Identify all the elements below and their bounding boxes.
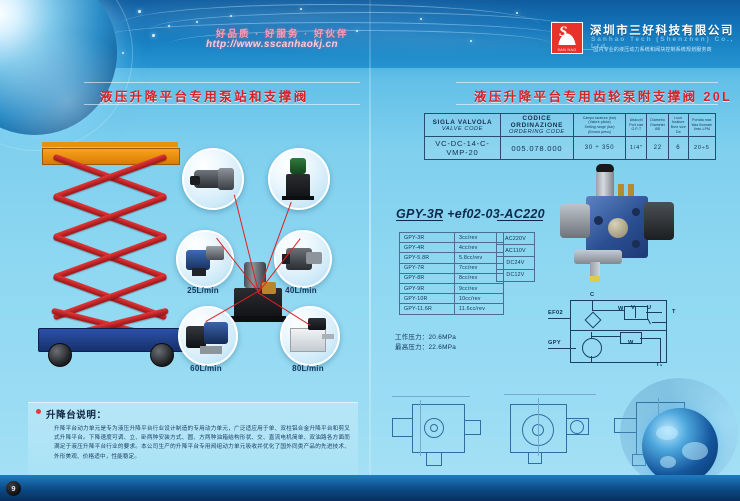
table-header-row: SIGLA VALVOLA VALVE CODE CODICE ORDINAZI…: [425, 114, 716, 137]
schematic-label-w-bottom: W: [628, 340, 634, 346]
note-bullet-icon: [36, 409, 41, 414]
sparkle-dot: [356, 30, 358, 32]
table-row: DC12V: [497, 269, 535, 281]
voltage-option: DC24V: [497, 257, 535, 269]
cad-drawing-side-view: [496, 392, 606, 464]
page-gutter: [369, 0, 371, 501]
table-row: GPY-9R9cc/rev: [400, 283, 504, 293]
sparkle-dot: [420, 18, 422, 20]
pump-photo-3: [178, 232, 232, 286]
sphere-ring: [0, 0, 133, 151]
table-row: VC-DC-14-C-VMP-20 005.078.000 30 ÷ 350 1…: [425, 137, 716, 160]
company-logo-mark: S SAN HAO: [551, 22, 583, 54]
sparkle-dot: [516, 12, 518, 14]
note-heading: 升降台说明：: [46, 407, 107, 421]
scissor-arms: [48, 164, 172, 332]
schematic-label-gpy: GPY: [548, 340, 561, 346]
schematic-line: [652, 322, 666, 323]
catalog-page: 好品质 · 好服务 · 好伙伴 http://www.sscanhaokj.cn…: [0, 0, 740, 501]
cell-diameter: 22: [647, 137, 669, 160]
voltage-option: AC110V: [497, 245, 535, 257]
bubble-pump-6[interactable]: [280, 306, 340, 366]
company-website[interactable]: http://www.sscanhaokj.cn: [206, 39, 338, 50]
cad-drawing-front-view: [386, 392, 496, 464]
schematic-line: [591, 356, 592, 362]
tank-base: [230, 316, 286, 322]
page-number-badge: 9: [6, 481, 21, 496]
logo-subtext: SAN HAO: [552, 48, 582, 52]
cell-ordering-code: 005.078.000: [500, 137, 573, 160]
lift-wheel: [48, 343, 72, 367]
col-valve-code-cn: SIGLA VALVOLA: [426, 119, 499, 126]
table-row: DC24V: [497, 257, 535, 269]
company-tagline: ——国内专业的液压动力系统和阀块控制系统规划服务商: [583, 46, 712, 53]
schematic-line-c: [592, 300, 593, 310]
col-max-flow-label: Portata max Max flowrate l/min-LPM: [690, 118, 714, 132]
cell-max-flow: 20÷5: [688, 137, 715, 160]
sparkle-dot: [152, 34, 155, 37]
bubble-label-3: 25L/min: [170, 286, 236, 295]
lift-note-box: 升降台说明： 升降平台动力单元是专为液压升降平台行业设计制造的专用动力单元，广泛…: [28, 402, 358, 481]
voltage-option-table: AC220V AC110V DC24V DC12V: [496, 232, 535, 282]
shaft-key: [590, 276, 600, 282]
cell-valve-code: VC-DC-14-C-VMP-20: [425, 137, 501, 160]
gear-pump-valve-photo: [556, 158, 696, 286]
pump-displacement: 9cc/rev: [455, 283, 504, 293]
schematic-line: [591, 332, 592, 338]
schematic-border-left: [570, 300, 571, 362]
pump-model: GPY-9R: [400, 283, 455, 293]
solenoid-coil: [644, 202, 674, 240]
table-row: GPY-3R3cc/rev: [400, 233, 504, 243]
bubble-pump-3[interactable]: [176, 230, 234, 288]
sparkle-dot: [138, 10, 141, 13]
col-ordering-code: CODICE ORDINAZIONE ORDERING CODE: [500, 114, 573, 137]
schematic-border-right: [666, 300, 667, 362]
left-page-title: 液压升降平台专用泵站和支撑阀: [100, 86, 309, 105]
pump-model: GPY-5.8R: [400, 253, 455, 263]
schematic-label-ef02: EF02: [548, 310, 563, 316]
globe-landmass: [660, 456, 676, 468]
pump-photo-1: [184, 150, 242, 208]
voltage-option: AC220V: [497, 233, 535, 245]
leader-line-gpy: [548, 348, 576, 349]
valve-spec-table: SIGLA VALVOLA VALVE CODE CODICE ORDINAZI…: [424, 113, 716, 160]
pump-model: GPY-8R: [400, 273, 455, 283]
col-setting-range: Campo taratura (bar) (Valore pilota) Set…: [573, 114, 625, 137]
pressure-spec-block: 工作压力：20.6MPa 最高压力：22.6MPa: [395, 333, 456, 353]
col-max-flow: Portata max Max flowrate l/min-LPM: [688, 114, 715, 137]
col-diameter: Diametro Diameter ØD: [647, 114, 669, 137]
manifold-port: [632, 240, 640, 248]
pump-displacement: 10cc/rev: [455, 294, 504, 304]
schematic-label-t: T: [672, 309, 676, 315]
sparkle-dot: [168, 25, 170, 27]
company-slogan: 好品质 · 好服务 · 好伙伴: [216, 26, 348, 40]
model-code-underline-right: [497, 220, 543, 221]
leader-line-ef02: [548, 318, 570, 319]
schematic-line: [646, 312, 662, 313]
col-bore-size-label: Luce forature Bore size Da: [670, 116, 687, 134]
voltage-option: DC12V: [497, 269, 535, 281]
globe-landmass: [656, 426, 678, 440]
relief-valve-symbol: [624, 306, 648, 320]
bubble-label-5: 60L/min: [172, 364, 240, 373]
schematic-label-w-top: W: [618, 306, 624, 312]
pump-model: GPY-3R: [400, 233, 455, 243]
table-row: AC110V: [497, 245, 535, 257]
hydraulic-schematic: EF02 GPY W W T T₁ C U V: [548, 298, 708, 378]
cell-port-size: 1/4": [626, 137, 647, 160]
pump-model: GPY-4R: [400, 243, 455, 253]
pump-displacement-table: GPY-3R3cc/rev GPY-4R4cc/rev GPY-5.8R5.8c…: [399, 232, 504, 315]
lift-wheel: [150, 343, 174, 367]
sparkle-dot: [230, 15, 232, 17]
check-valve-symbol: [585, 312, 602, 329]
manifold-port-center: [608, 218, 628, 238]
schematic-label-v: V: [631, 305, 635, 311]
gear-pump-symbol: [582, 338, 602, 358]
table-row: GPY-7R7cc/rev: [400, 263, 504, 273]
lift-guard-rail: [42, 142, 178, 147]
note-body-text: 升降平台动力单元是专为液压升降平台行业设计制造的专用动力单元，广泛适应用于单、双…: [54, 425, 350, 462]
cell-bore-size: 6: [669, 137, 689, 160]
pump-model: GPY-7R: [400, 263, 455, 273]
table-row: GPY-11.6R11.6cc/rev: [400, 304, 504, 314]
globe-sphere: [642, 408, 718, 484]
cell-setting-range: 30 ÷ 350: [573, 137, 625, 160]
table-row: AC220V: [497, 233, 535, 245]
pump-model: GPY-11.6R: [400, 304, 455, 314]
sparkle-dot: [470, 40, 472, 42]
globe-landmass: [682, 442, 708, 460]
working-pressure: 工作压力：20.6MPa: [395, 333, 456, 343]
schematic-label-c: C: [590, 292, 594, 298]
schematic-label-u: U: [647, 305, 651, 311]
right-title-rule-top: [456, 82, 718, 83]
col-valve-code: SIGLA VALVOLA VALVE CODE: [425, 114, 501, 137]
bubble-label-4: 40L/min: [268, 286, 334, 295]
sparkle-dot: [196, 21, 198, 23]
gear-pump-body: [560, 204, 590, 238]
manifold-port: [632, 208, 640, 216]
pump-model: GPY-10R: [400, 294, 455, 304]
schematic-line: [640, 338, 660, 339]
col-bore-size: Luce forature Bore size Da: [669, 114, 689, 137]
left-title-rule-top: [84, 82, 360, 83]
pump-displacement: 11.6cc/rev: [455, 304, 504, 314]
table-row: GPY-4R4cc/rev: [400, 243, 504, 253]
col-port-size-label: Attacchi Port size G-P-T: [627, 118, 645, 132]
right-page-title: 液压升降平台专用齿轮泵附支撑阀 20L: [474, 86, 732, 105]
table-row: GPY-10R10cc/rev: [400, 294, 504, 304]
model-code-label: GPY-3R +ef02-03-AC220: [396, 207, 545, 221]
col-ordering-code-cn: CODICE ORDINAZIONE: [502, 115, 572, 129]
col-port-size: Attacchi Port size G-P-T: [626, 114, 647, 137]
bubble-pump-2[interactable]: [268, 148, 330, 210]
pump-photo-6: [282, 308, 338, 364]
maximum-pressure: 最高压力：22.6MPa: [395, 343, 456, 353]
globe-graphic: [620, 378, 738, 488]
logo-letter: S: [559, 24, 567, 41]
pump-photo-5: [180, 308, 236, 364]
left-title-rule-bottom: [84, 104, 360, 105]
scissor-lift-illustration: [34, 140, 184, 375]
pump-photo-2: [270, 150, 328, 208]
schematic-label-t1: T₁: [656, 362, 663, 368]
col-valve-code-en: VALVE CODE: [426, 126, 499, 132]
pump-riser: [596, 172, 614, 198]
col-ordering-code-en: ORDERING CODE: [502, 129, 572, 135]
sparkle-dot: [300, 8, 302, 10]
schematic-line: [591, 336, 621, 337]
table-row: GPY-5.8R5.8cc/rev: [400, 253, 504, 263]
schematic-divider: [570, 330, 666, 331]
manifold-port: [594, 216, 603, 225]
schematic-line: [660, 338, 661, 362]
bubble-label-6: 80L/min: [274, 364, 342, 373]
table-row: GPY-8R8cc/rev: [400, 273, 504, 283]
col-setting-range-en: Setting range (bar) (Known press): [575, 125, 624, 134]
valve-divider: [635, 306, 636, 318]
schematic-border-top: [570, 300, 666, 301]
model-code-underline-left: [396, 220, 443, 221]
col-setting-range-it: Campo taratura (bar) (Valore pilota): [575, 116, 624, 125]
schematic-border-bottom: [570, 362, 667, 363]
col-diameter-label: Diametro Diameter ØD: [648, 118, 667, 132]
bubble-pump-5[interactable]: [178, 306, 238, 366]
bottom-banner: [0, 475, 740, 501]
right-title-rule-bottom: [456, 104, 718, 105]
